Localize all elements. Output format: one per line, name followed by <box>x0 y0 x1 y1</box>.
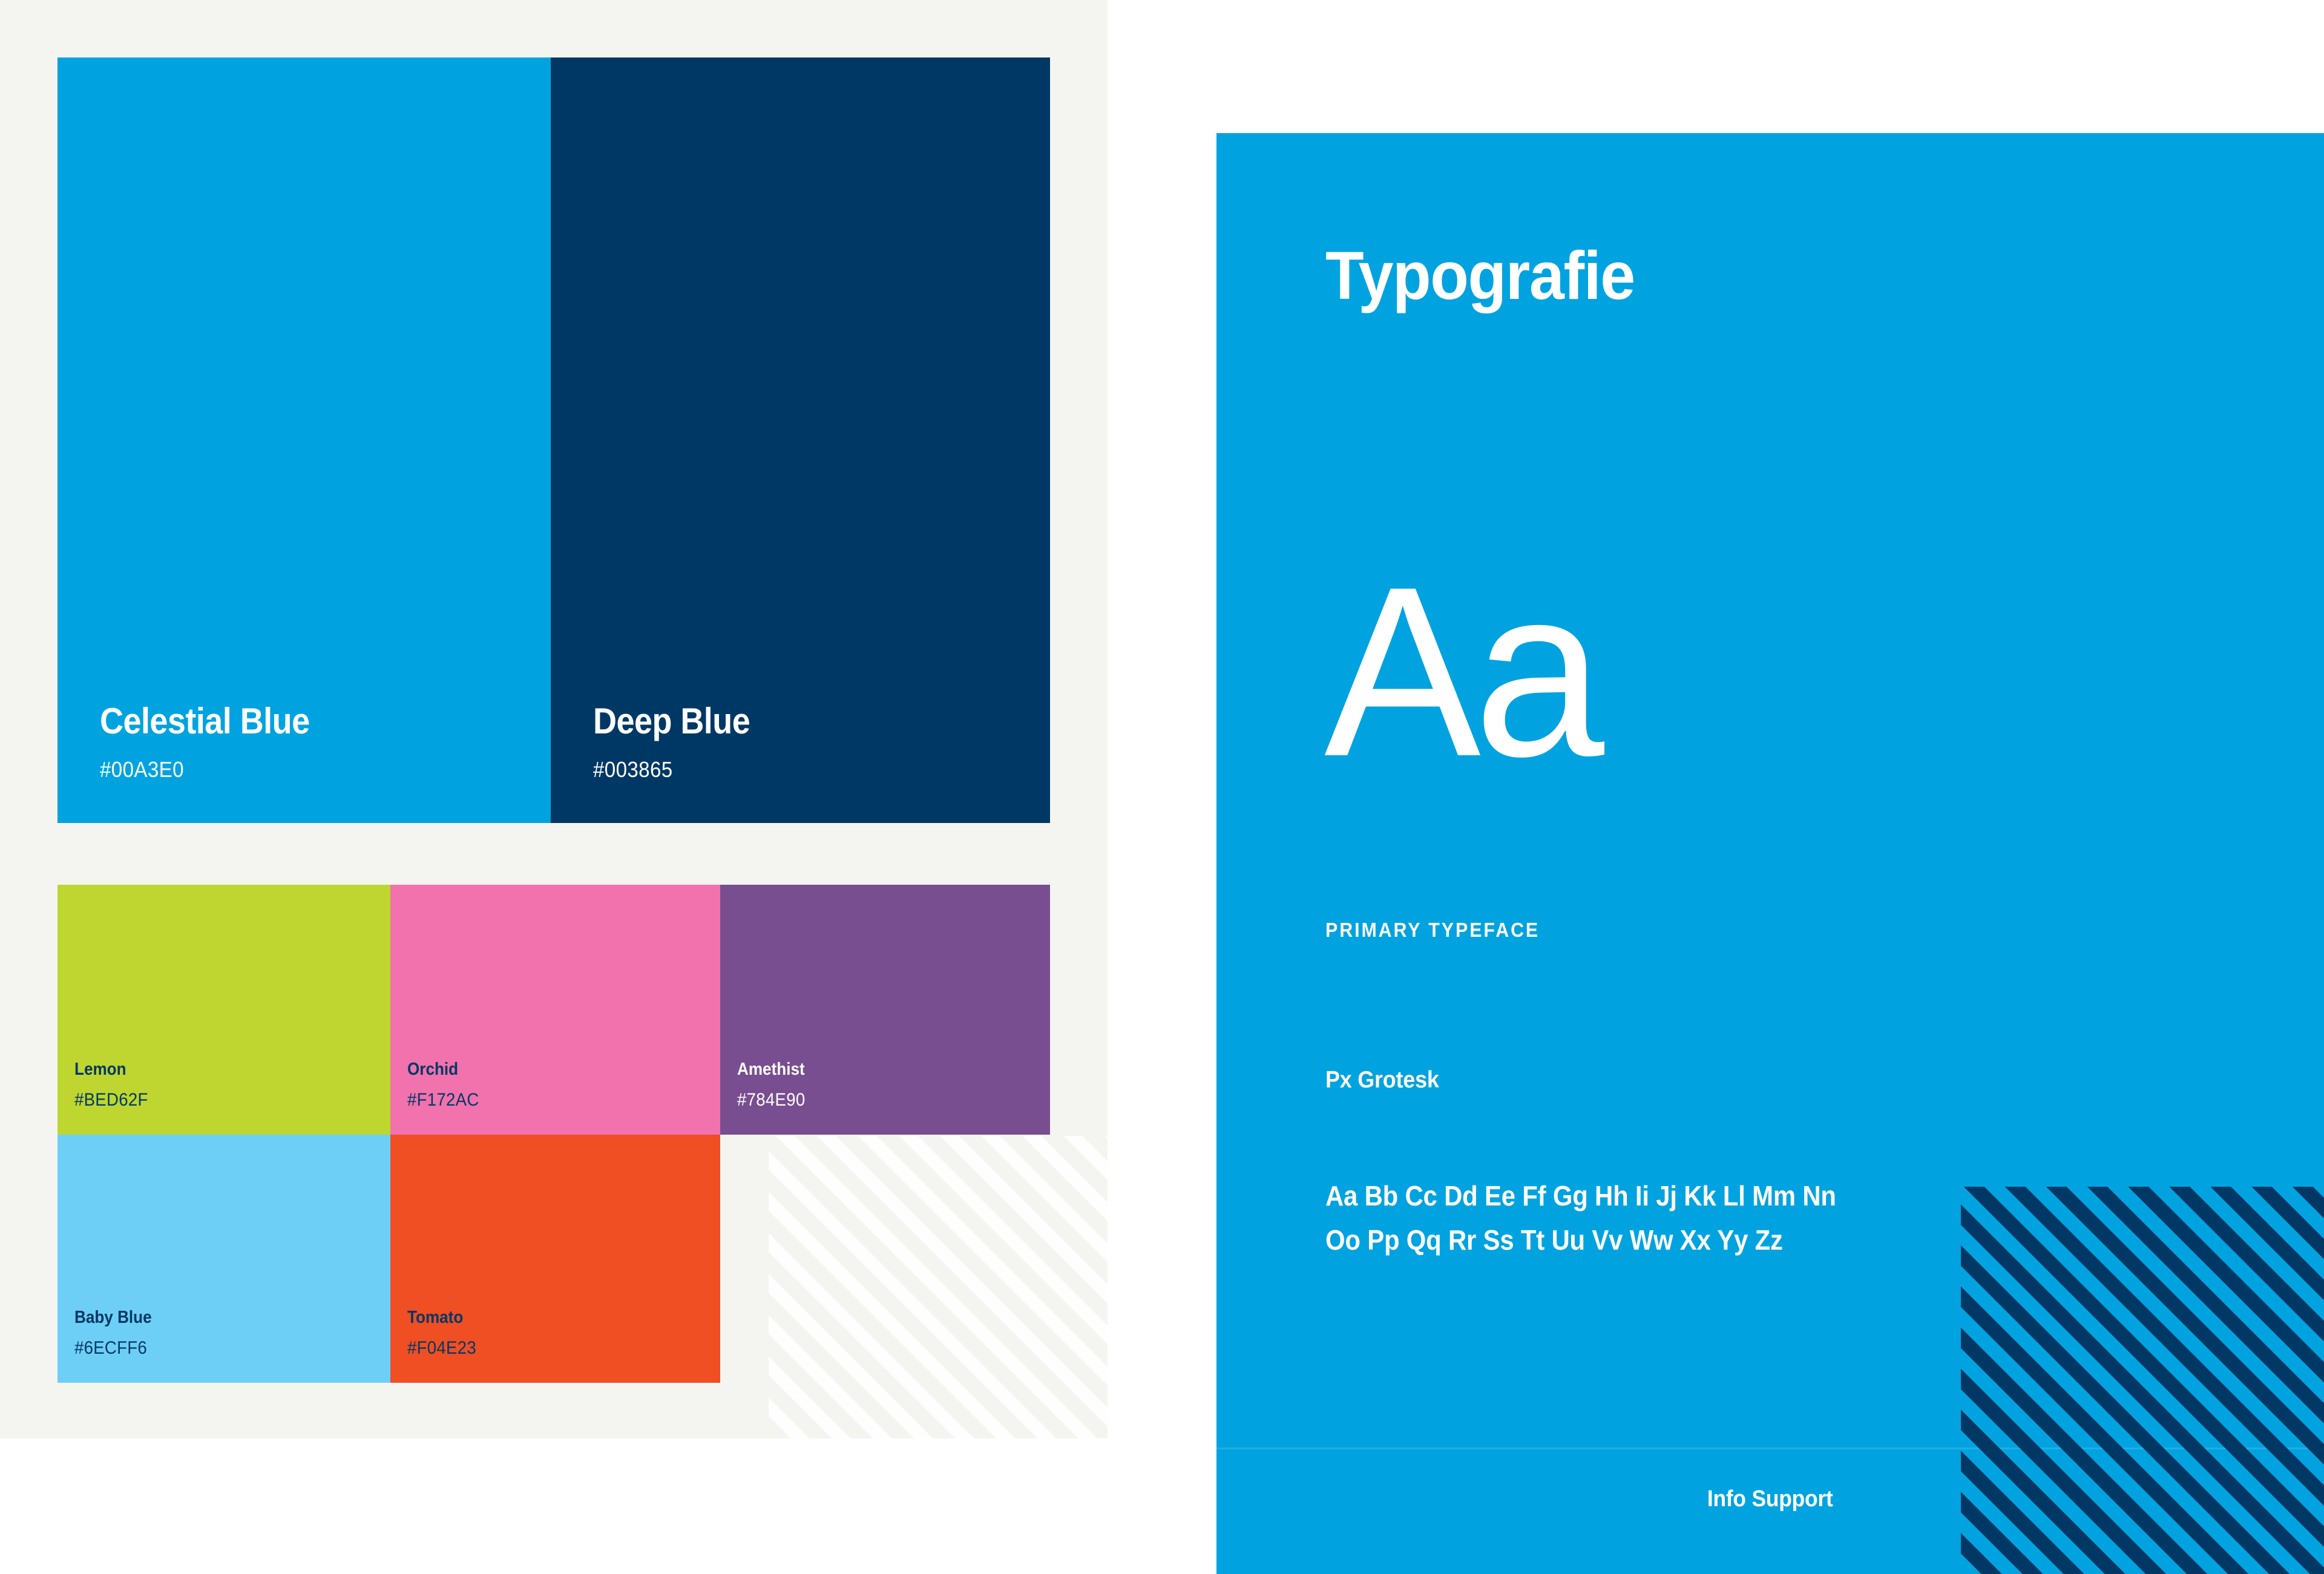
swatch-hex-code: #003865 <box>593 759 1014 781</box>
swatch-tomato[interactable]: Tomato #F04E23 <box>390 1135 720 1383</box>
typography-content: Typografie Aa PRIMARY TYPEFACE Px Grotes… <box>1216 133 2324 1574</box>
alphabet-line: Aa Bb Cc Dd Ee Ff Gg Hh Ii Jj Kk Ll Mm N… <box>1325 1174 2185 1218</box>
swatch-name: Lemon <box>74 1061 359 1078</box>
alphabet-specimen: Aa Bb Cc Dd Ee Ff Gg Hh Ii Jj Kk Ll Mm N… <box>1325 1174 2270 1262</box>
footer-divider <box>1216 1448 2324 1449</box>
swatch-amethist[interactable]: Amethist #784E90 <box>720 885 1050 1135</box>
swatch-hex-code: #6ECFF6 <box>74 1339 365 1357</box>
swatch-hex-code: #F04E23 <box>407 1339 695 1357</box>
swatch-celestial-blue[interactable]: Celestial Blue #00A3E0 <box>57 57 551 823</box>
swatch-name: Baby Blue <box>74 1309 359 1326</box>
typography-panel: Typografie Aa PRIMARY TYPEFACE Px Grotes… <box>1216 133 2324 1574</box>
color-palette-panel: Celestial Blue #00A3E0 Deep Blue #003865… <box>0 0 1108 1438</box>
swatch-deep-blue[interactable]: Deep Blue #003865 <box>551 57 1050 823</box>
swatch-name: Celestial Blue <box>100 703 506 739</box>
swatch-lemon[interactable]: Lemon #BED62F <box>57 885 390 1135</box>
page-title: Typografie <box>1325 242 1635 310</box>
primary-swatch-group: Celestial Blue #00A3E0 Deep Blue #003865 <box>57 57 1050 823</box>
swatch-hex-code: #BED62F <box>74 1091 365 1109</box>
swatch-orchid[interactable]: Orchid #F172AC <box>390 885 720 1135</box>
swatch-name: Amethist <box>737 1061 1019 1078</box>
swatch-name: Deep Blue <box>593 703 1005 739</box>
typeface-specimen-glyphs: Aa <box>1324 551 1597 793</box>
alphabet-line: Oo Pp Qq Rr Ss Tt Uu Vv Ww Xx Yy Zz <box>1325 1218 2185 1262</box>
typeface-family-name: Px Grotesk <box>1325 1068 1439 1092</box>
secondary-swatch-group: Lemon #BED62F Orchid #F172AC Amethist #7… <box>57 885 1050 1383</box>
swatch-name: Orchid <box>407 1061 689 1078</box>
footer: Info Support <box>1216 1487 2324 1510</box>
swatch-hex-code: #00A3E0 <box>100 759 514 781</box>
swatch-hex-code: #F172AC <box>407 1091 695 1109</box>
primary-typeface-label: PRIMARY TYPEFACE <box>1325 920 1540 940</box>
swatch-hex-code: #784E90 <box>737 1091 1025 1109</box>
brand-name: Info Support <box>1707 1487 1833 1510</box>
swatch-name: Tomato <box>407 1309 689 1326</box>
swatch-baby-blue[interactable]: Baby Blue #6ECFF6 <box>57 1135 390 1383</box>
